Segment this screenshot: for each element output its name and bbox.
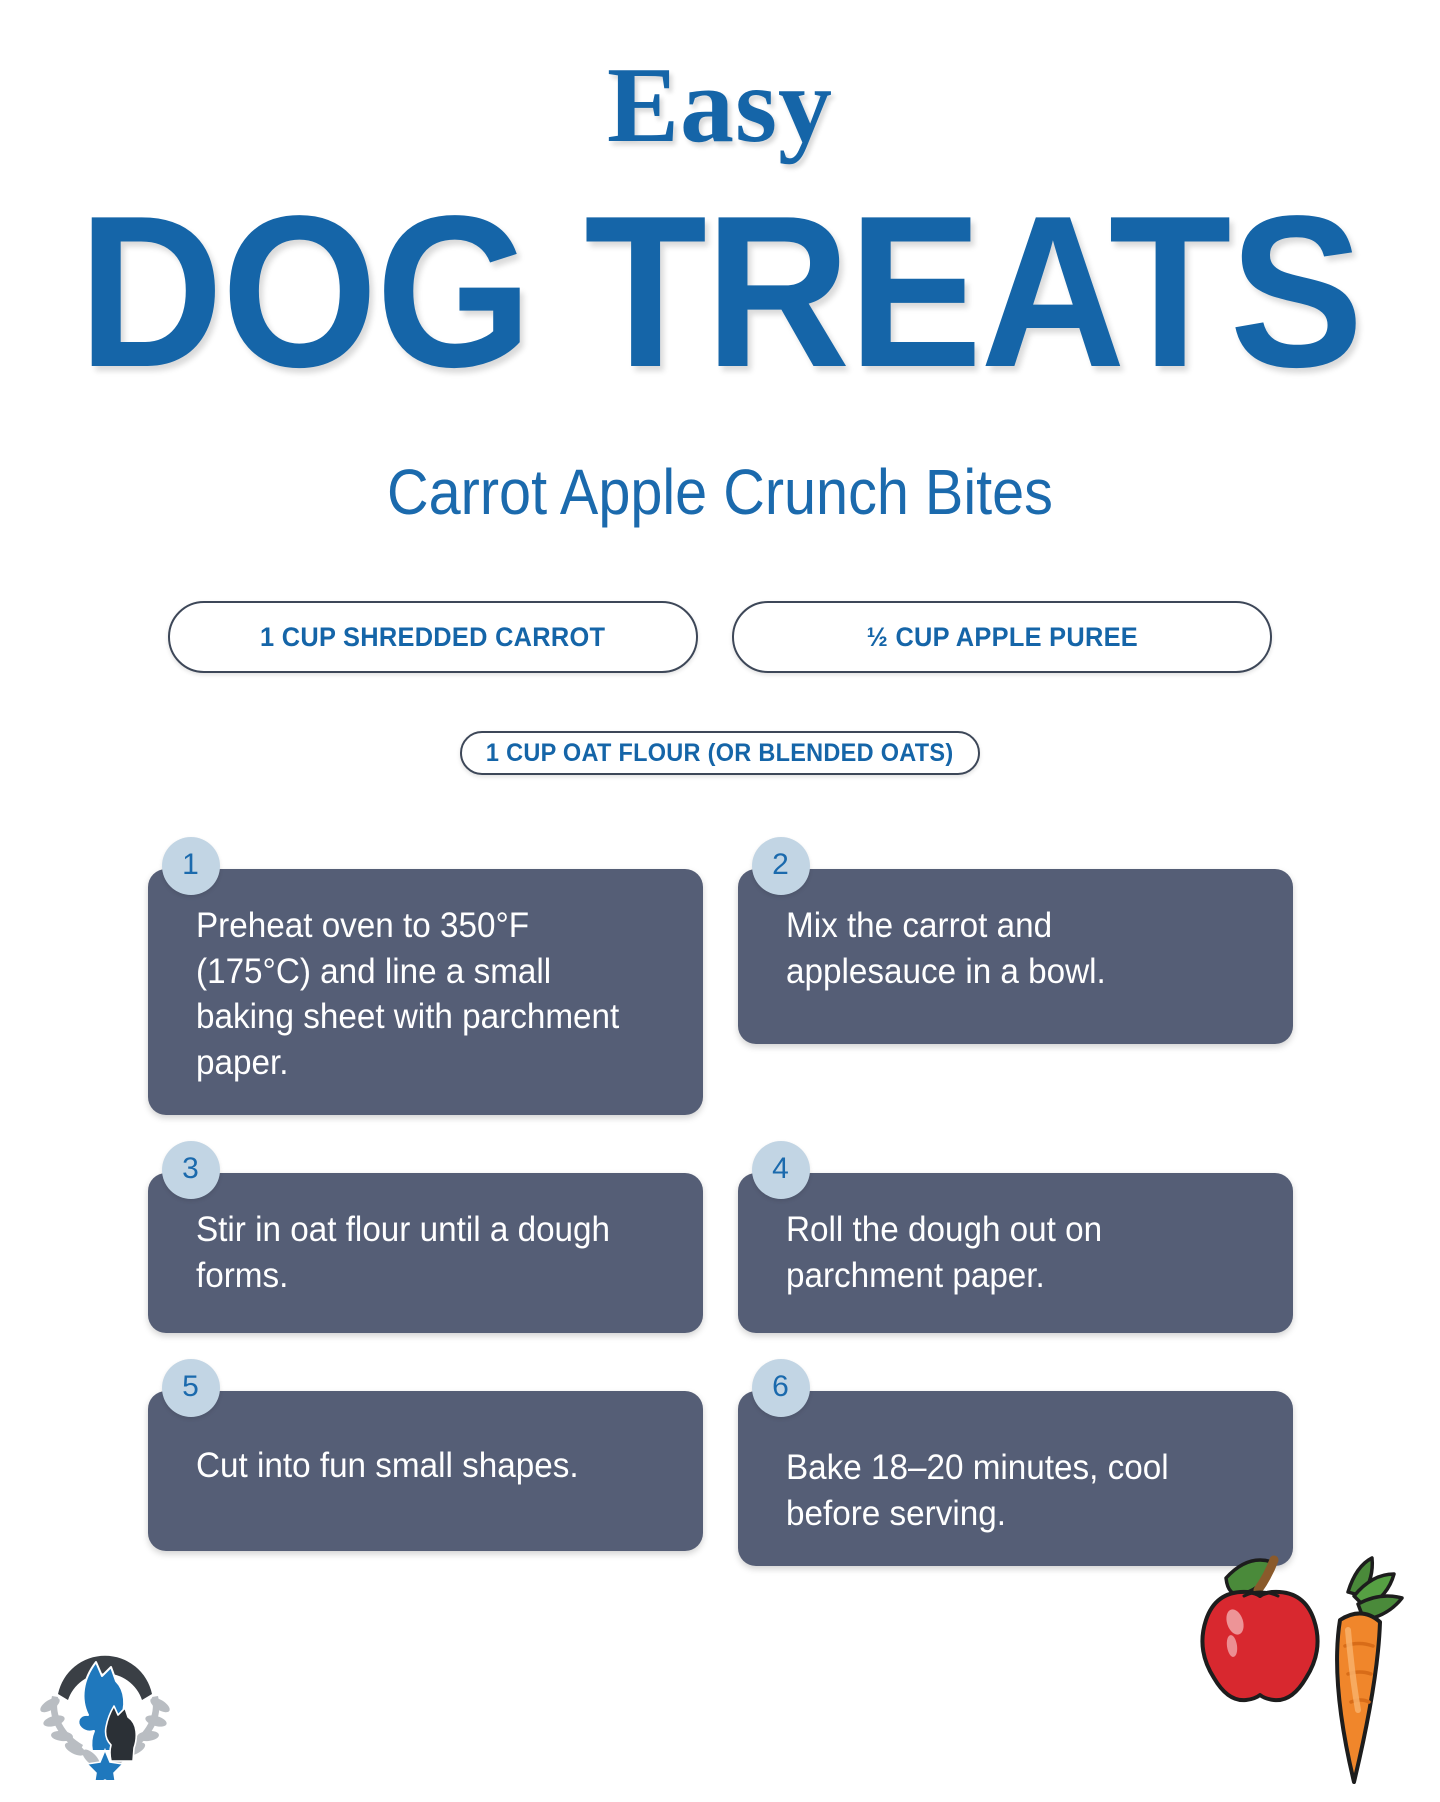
step-card: Cut into fun small shapes.: [148, 1391, 703, 1551]
step-number-badge: 3: [162, 1141, 220, 1199]
step-card: Mix the carrot and applesauce in a bowl.: [738, 869, 1293, 1044]
step-item: 5 Cut into fun small shapes.: [148, 1359, 703, 1566]
step-text: Mix the carrot and applesauce in a bowl.: [786, 903, 1226, 994]
step-item: 6 Bake 18–20 minutes, cool before servin…: [738, 1359, 1293, 1566]
step-text: Stir in oat flour until a dough forms.: [196, 1207, 636, 1298]
step-number: 5: [182, 1370, 199, 1404]
infographic-page: Easy DOG TREATS Carrot Apple Crunch Bite…: [0, 0, 1440, 1802]
step-number-badge: 1: [162, 837, 220, 895]
steps-grid: 1 Preheat oven to 350°F (175°C) and line…: [0, 837, 1440, 1566]
step-card: Bake 18–20 minutes, cool before serving.: [738, 1391, 1293, 1566]
produce-illustration: [1188, 1534, 1418, 1794]
step-item: 3 Stir in oat flour until a dough forms.: [148, 1141, 703, 1333]
ingredient-pill-apple-puree[interactable]: ½ CUP APPLE PUREE: [732, 601, 1272, 673]
step-card: Stir in oat flour until a dough forms.: [148, 1173, 703, 1333]
carrot-icon: [1337, 1558, 1402, 1782]
step-text: Bake 18–20 minutes, cool before serving.: [786, 1445, 1226, 1536]
ingredient-row-primary: 1 CUP SHREDDED CARROT ½ CUP APPLE PUREE: [0, 601, 1440, 673]
step-number: 6: [772, 1370, 789, 1404]
step-number-badge: 2: [752, 837, 810, 895]
ingredient-pill-carrot[interactable]: 1 CUP SHREDDED CARROT: [168, 601, 698, 673]
page-subtitle: Carrot Apple Crunch Bites: [72, 457, 1368, 527]
step-text: Cut into fun small shapes.: [196, 1443, 579, 1489]
eyebrow-text: Easy: [0, 52, 1440, 160]
step-number-badge: 5: [162, 1359, 220, 1417]
ingredient-label: ½ CUP APPLE PUREE: [866, 622, 1137, 653]
step-number: 4: [772, 1152, 789, 1186]
ingredient-label: 1 CUP OAT FLOUR (OR BLENDED OATS): [486, 739, 954, 768]
step-card: Roll the dough out on parchment paper.: [738, 1173, 1293, 1333]
step-item: 4 Roll the dough out on parchment paper.: [738, 1141, 1293, 1333]
step-number-badge: 6: [752, 1359, 810, 1417]
apple-icon: [1202, 1560, 1317, 1700]
step-text: Preheat oven to 350°F (175°C) and line a…: [196, 903, 636, 1085]
dog-cat-laurel-logo-icon: [34, 1638, 176, 1780]
ingredient-label: 1 CUP SHREDDED CARROT: [260, 622, 605, 653]
step-text: Roll the dough out on parchment paper.: [786, 1207, 1226, 1298]
step-number: 1: [182, 848, 199, 882]
title-block: Easy DOG TREATS Carrot Apple Crunch Bite…: [0, 0, 1440, 527]
step-number: 3: [182, 1152, 199, 1186]
step-number: 2: [772, 848, 789, 882]
step-card: Preheat oven to 350°F (175°C) and line a…: [148, 869, 703, 1115]
step-number-badge: 4: [752, 1141, 810, 1199]
ingredient-row-secondary: 1 CUP OAT FLOUR (OR BLENDED OATS): [0, 731, 1440, 775]
step-item: 1 Preheat oven to 350°F (175°C) and line…: [148, 837, 703, 1115]
step-item: 2 Mix the carrot and applesauce in a bow…: [738, 837, 1293, 1115]
ingredient-pill-oat-flour[interactable]: 1 CUP OAT FLOUR (OR BLENDED OATS): [460, 731, 980, 775]
page-title: DOG TREATS: [50, 192, 1389, 391]
